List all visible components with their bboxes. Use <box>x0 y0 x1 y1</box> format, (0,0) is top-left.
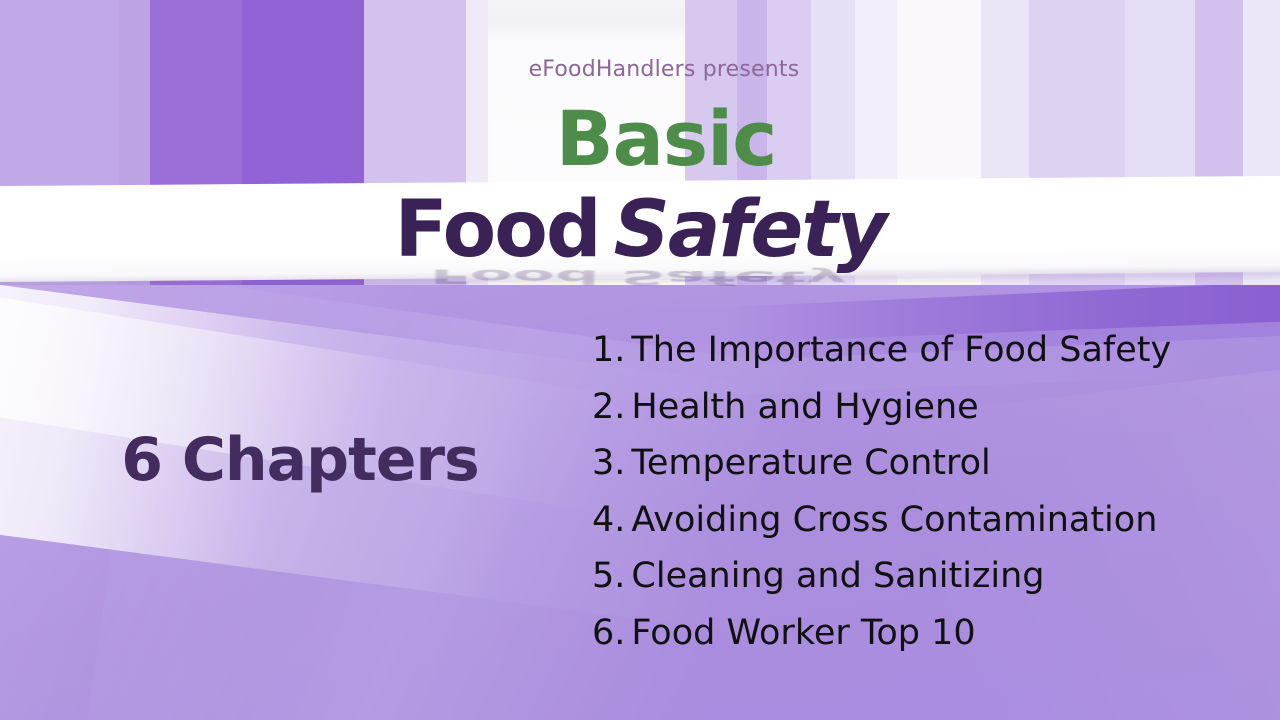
chapter-label: Avoiding Cross Contamination <box>631 500 1157 540</box>
chapter-label: Food Worker Top 10 <box>631 613 975 653</box>
chapter-label: Cleaning and Sanitizing <box>631 556 1044 596</box>
title-line-basic: Basic <box>0 97 1280 181</box>
presentation-slide: Food Safety eFoodHandlers presents Basic… <box>0 0 1280 720</box>
chapter-label: Health and Hygiene <box>631 387 978 427</box>
title-word-food: Food <box>395 185 600 275</box>
chapter-list-item: 3.Temperature Control <box>592 435 1232 492</box>
chapter-label: The Importance of Food Safety <box>631 330 1171 370</box>
chapter-list-item: 6.Food Worker Top 10 <box>592 605 1232 662</box>
chapter-list-item: 4.Avoiding Cross Contamination <box>592 492 1232 549</box>
kicker-line: eFoodHandlers presents <box>0 57 1280 82</box>
chapter-number: 5. <box>592 556 625 596</box>
chapter-list-item: 2.Health and Hygiene <box>592 379 1232 436</box>
chapter-number: 2. <box>592 387 625 427</box>
chapter-list-item: 1.The Importance of Food Safety <box>592 322 1232 379</box>
title-line-food-safety: FoodSafety <box>0 184 1280 276</box>
chapter-number: 1. <box>592 330 625 370</box>
kicker-text: eFoodHandlers presents <box>529 57 800 82</box>
chapter-list: 1.The Importance of Food Safety2.Health … <box>592 322 1232 662</box>
title-word-safety: Safety <box>614 185 886 275</box>
chapter-count-heading: 6 Chapters <box>60 424 540 496</box>
chapter-number: 6. <box>592 613 625 653</box>
chapter-number: 3. <box>592 443 625 483</box>
chapter-number: 4. <box>592 500 625 540</box>
chapter-label: Temperature Control <box>631 443 990 483</box>
chapter-list-item: 5.Cleaning and Sanitizing <box>592 548 1232 605</box>
title-basic-text: Basic <box>556 94 777 183</box>
